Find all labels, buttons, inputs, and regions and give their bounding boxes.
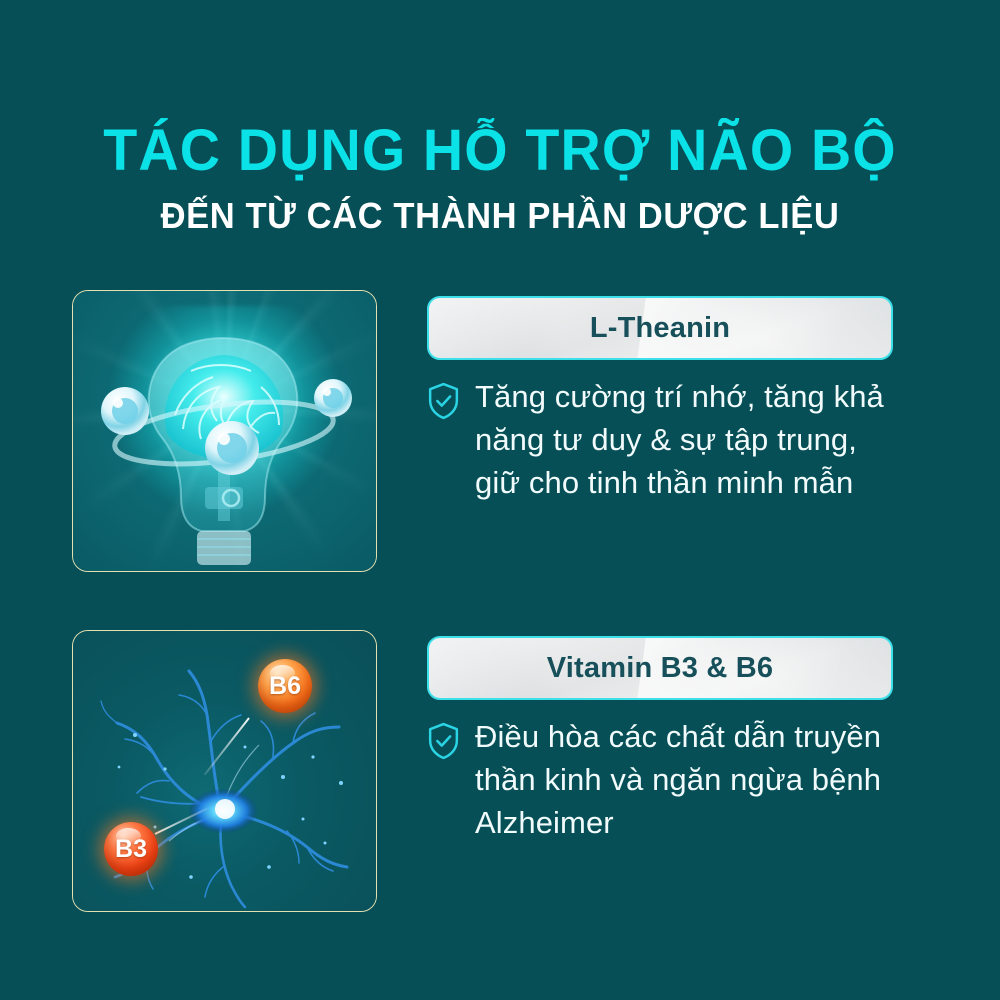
vitamin-badge-b6-label: B6 <box>269 672 301 701</box>
ingredient-pill-label: L-Theanin <box>590 312 730 345</box>
neuron-image: B6 B3 <box>73 631 376 911</box>
ingredient-pill-vitamin-b3-b6[interactable]: Vitamin B3 & B6 <box>427 636 893 700</box>
section-vitamin-b3-b6: B6 B3 Vitamin B3 & B6 Điều hòa các chất … <box>0 628 1000 913</box>
shield-check-icon <box>427 722 460 760</box>
orbital-sphere-left <box>101 387 149 435</box>
orbital-sphere-right <box>314 379 352 417</box>
image-panel-brain-lightbulb <box>72 290 377 572</box>
page-title: TÁC DỤNG HỖ TRỢ NÃO BỘ <box>20 122 980 180</box>
shield-check-icon <box>427 382 460 420</box>
vitamin-badge-b3-label: B3 <box>115 835 147 864</box>
page-subtitle: ĐẾN TỪ CÁC THÀNH PHẦN DƯỢC LIỆU <box>20 198 980 234</box>
benefit-row-l-theanin: Tăng cường trí nhớ, tăng khả năng tư duy… <box>427 376 897 504</box>
content-l-theanin: L-Theanin Tăng cường trí nhớ, tăng khả n… <box>427 288 897 504</box>
page-header: TÁC DỤNG HỖ TRỢ NÃO BỘ ĐẾN TỪ CÁC THÀNH … <box>0 0 1000 234</box>
glowing-brain-lightbulb-image <box>73 291 376 571</box>
benefit-text: Tăng cường trí nhớ, tăng khả năng tư duy… <box>475 376 897 504</box>
orbital-sphere-center <box>205 421 259 475</box>
ingredient-pill-l-theanin[interactable]: L-Theanin <box>427 296 893 360</box>
image-panel-neuron: B6 B3 <box>72 630 377 912</box>
ingredient-pill-label: Vitamin B3 & B6 <box>547 652 773 685</box>
vitamin-badge-b6: B6 <box>258 659 312 713</box>
bulb-brain-illustration <box>73 291 376 571</box>
neuron-nucleus <box>215 799 235 819</box>
benefit-text: Điều hòa các chất dẫn truyền thần kinh v… <box>475 716 897 844</box>
vitamin-badge-b3: B3 <box>104 822 158 876</box>
section-l-theanin: L-Theanin Tăng cường trí nhớ, tăng khả n… <box>0 288 1000 573</box>
benefit-row-vitamin-b3-b6: Điều hòa các chất dẫn truyền thần kinh v… <box>427 716 897 844</box>
content-vitamin-b3-b6: Vitamin B3 & B6 Điều hòa các chất dẫn tr… <box>427 628 897 844</box>
